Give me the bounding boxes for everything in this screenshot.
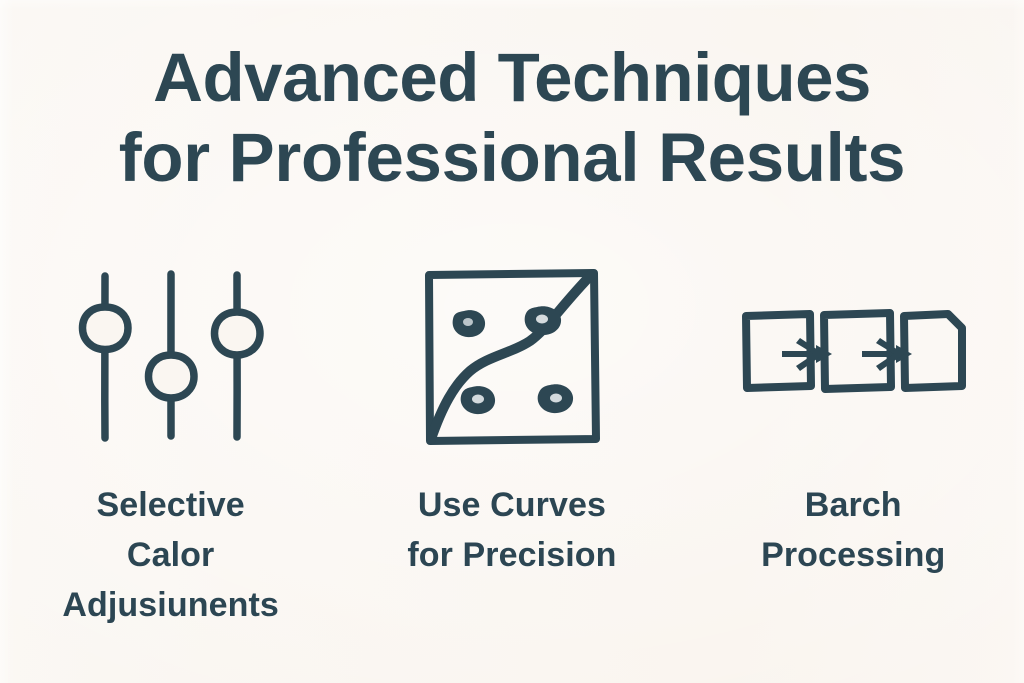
title-line-2: for Professional Results bbox=[0, 118, 1024, 198]
icon-slot-1 bbox=[71, 262, 271, 452]
feature-column-1: Selective Calor Adjusiunents bbox=[0, 262, 341, 630]
slide-canvas: Advanced Techniques for Professional Res… bbox=[0, 0, 1024, 683]
feature-column-2: Use Curves for Precision bbox=[341, 262, 682, 630]
feature-column-3: Barch Processing bbox=[683, 262, 1024, 630]
feature-label-1: Selective Calor Adjusiunents bbox=[1, 480, 341, 630]
title-line-1: Advanced Techniques bbox=[0, 38, 1024, 118]
feature-label-2: Use Curves for Precision bbox=[352, 480, 672, 580]
curve-control-points bbox=[453, 306, 573, 414]
icon-slot-3 bbox=[738, 262, 968, 452]
icon-slot-2 bbox=[422, 262, 602, 452]
batch-processing-icon bbox=[738, 302, 968, 412]
curves-graph-icon bbox=[422, 267, 602, 447]
feature-columns: Selective Calor Adjusiunents bbox=[0, 262, 1024, 630]
page-title: Advanced Techniques for Professional Res… bbox=[0, 38, 1024, 198]
feature-label-3: Barch Processing bbox=[693, 480, 1013, 580]
sliders-icon bbox=[71, 262, 271, 452]
